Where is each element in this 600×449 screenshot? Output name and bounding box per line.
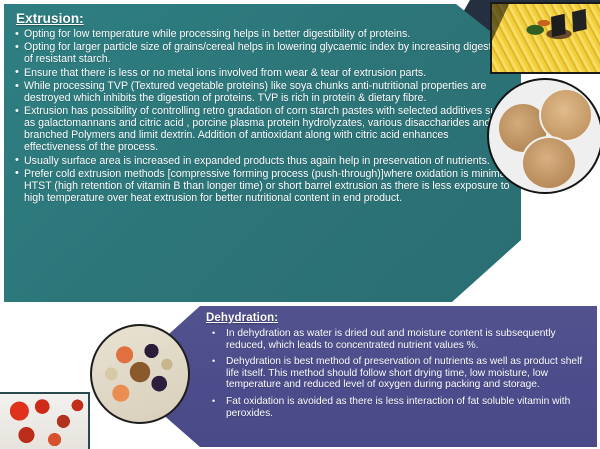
- dehydration-panel: Dehydration: In dehydration as water is …: [160, 306, 597, 447]
- soya-chunk-bowl-small: [521, 136, 577, 190]
- extrusion-panel: Extrusion: Opting for low temperature wh…: [4, 4, 521, 302]
- dehydration-title-colon: :: [274, 312, 278, 324]
- extrusion-title-text: Extrusion: [16, 11, 79, 26]
- extrusion-bullet-4: While processing TVP (Textured vegetable…: [12, 81, 511, 105]
- extrusion-bullet-1: Opting for low temperature while process…: [12, 29, 511, 41]
- extrusion-bullet-list: Opting for low temperature while process…: [12, 29, 511, 205]
- extrusion-title-colon: :: [79, 11, 84, 26]
- dehydration-bullet-2: Dehydration is best method of preservati…: [204, 356, 587, 391]
- dehydration-bullet-3: Fat oxidation is avoided as there is les…: [204, 396, 587, 419]
- dehydration-bullet-1: In dehydration as water is dried out and…: [204, 328, 587, 351]
- extrusion-bullet-6: Usually surface area is increased in exp…: [12, 156, 511, 168]
- dried-tomato-photo: [0, 392, 90, 449]
- extrusion-bullet-5: Extrusion has possibility of controlling…: [12, 106, 511, 154]
- dehydration-title: Dehydration:: [206, 312, 587, 324]
- extruded-pasta-photo: [490, 2, 600, 74]
- dehydration-bullet-list: In dehydration as water is dried out and…: [204, 328, 587, 419]
- dehydration-title-text: Dehydration: [206, 312, 274, 324]
- extrusion-title: Extrusion:: [16, 11, 511, 26]
- slide-canvas: Extrusion: Opting for low temperature wh…: [0, 0, 600, 449]
- extrusion-bullet-2: Opting for larger particle size of grain…: [12, 42, 511, 66]
- extrusion-bullet-3: Ensure that there is less or no metal io…: [12, 68, 511, 80]
- soya-chunk-bowl-large: [539, 88, 593, 142]
- extrusion-bullet-7: Prefer cold extrusion methods [compressi…: [12, 169, 511, 205]
- chopsticks-detail: [540, 6, 600, 39]
- soya-chunks-photo: [487, 78, 600, 194]
- dried-fruit-photo: [90, 324, 190, 424]
